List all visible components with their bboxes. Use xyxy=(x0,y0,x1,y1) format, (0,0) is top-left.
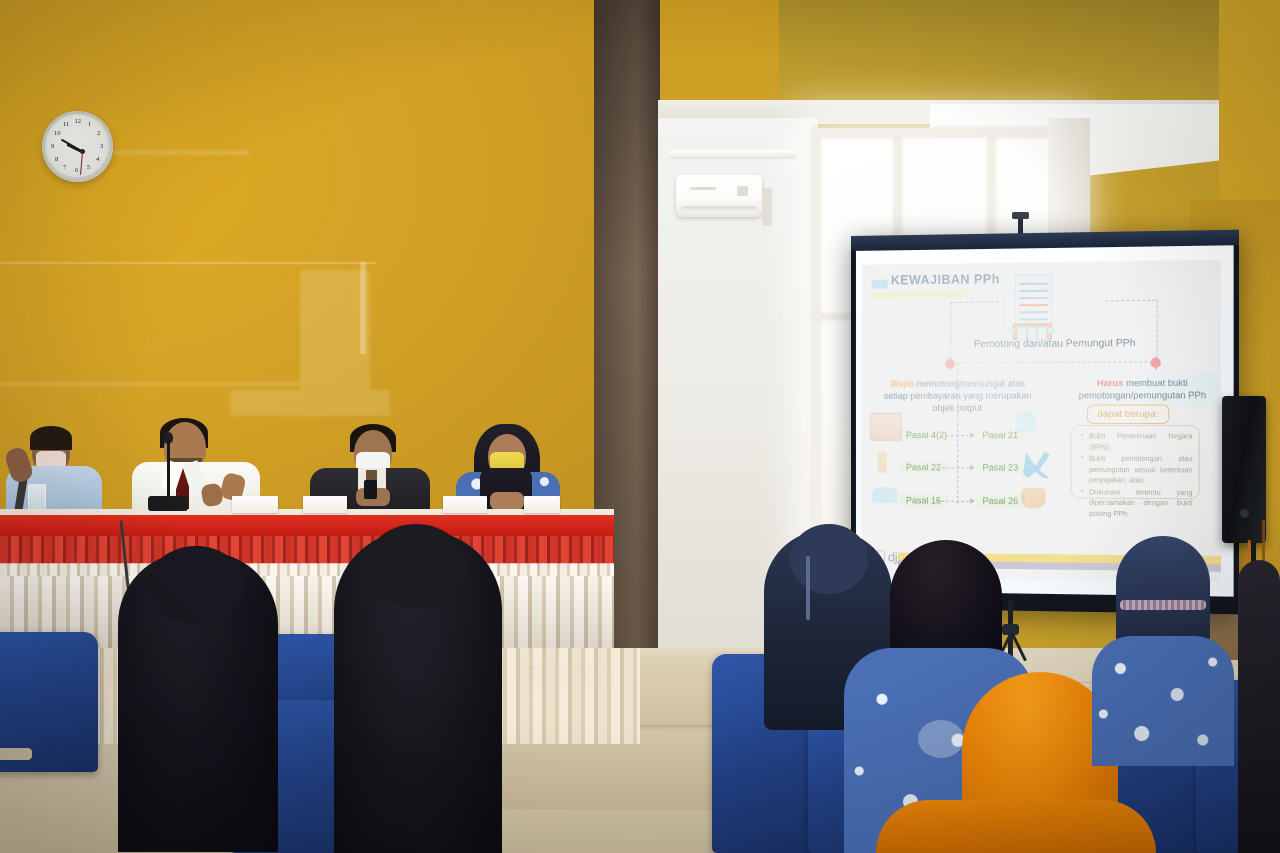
microphone-base xyxy=(148,496,188,511)
clock-second-hand xyxy=(80,152,83,175)
tools-icon xyxy=(878,451,887,473)
slide-bullet: Bukti Penerimaan Negara (BPN); xyxy=(1089,432,1192,454)
clock-numeral: 10 xyxy=(54,130,61,137)
smartphone-icon xyxy=(364,480,377,499)
ac-pipe xyxy=(762,188,772,226)
pasal-chip-right: Pasal 26 xyxy=(976,494,1024,509)
clock-numeral: 9 xyxy=(51,143,54,150)
clock-numeral: 4 xyxy=(96,156,99,163)
slide-title-underline xyxy=(872,291,967,299)
ac-mount-rail xyxy=(668,150,798,159)
basket-icon xyxy=(1021,488,1046,508)
hijab-cord xyxy=(806,556,810,620)
slide-title-accent xyxy=(872,280,888,289)
slide-bullet: Bukti pemotongan atau pemungutan sesuai … xyxy=(1089,455,1192,488)
factory-icon xyxy=(870,413,902,441)
clock-numeral: 6 xyxy=(75,167,78,174)
clock-face: 12 1 2 3 4 5 6 7 8 9 10 11 xyxy=(47,116,108,177)
clock-numeral: 12 xyxy=(75,118,82,125)
clock-numeral: 2 xyxy=(97,130,100,137)
pasal-chip-right: Pasal 23 xyxy=(976,460,1024,474)
clock-numeral: 1 xyxy=(88,121,91,128)
slide-left-heading-highlight: Wajib xyxy=(890,379,914,389)
pin-marker-right-icon xyxy=(1150,357,1160,367)
hijab-trim xyxy=(1120,600,1206,610)
bracket-frame xyxy=(950,300,1158,364)
attendee-batik-shirt xyxy=(1092,636,1234,766)
slide-bullet-box: Bukti Penerimaan Negara (BPN); Bukti pem… xyxy=(1071,425,1200,499)
clock-numeral: 8 xyxy=(55,156,58,163)
projected-slide: KEWAJIBAN PPh xyxy=(862,260,1221,582)
drinking-glass xyxy=(28,484,46,512)
chair-armrest xyxy=(0,748,32,760)
speaker-driver-icon xyxy=(1240,509,1249,518)
name-card xyxy=(303,496,347,513)
slide-bullet: Dokumen tertentu yang dipersamakan denga… xyxy=(1089,488,1192,521)
seminar-room-photo: 12 1 2 3 4 5 6 7 8 9 10 11 xyxy=(0,0,1280,853)
attendee-head xyxy=(366,524,466,608)
clock-numeral: 5 xyxy=(87,164,90,171)
clock-numeral: 3 xyxy=(100,143,103,150)
slide-right-heading: Harus membuat bukti pemotongan/pemunguta… xyxy=(1060,371,1221,407)
name-card xyxy=(443,496,487,513)
slide-badge: dapat berupa: xyxy=(1087,405,1169,425)
name-card xyxy=(524,496,560,513)
wall-clock: 12 1 2 3 4 5 6 7 8 9 10 11 xyxy=(42,111,113,182)
slide-right-heading-highlight: Harus xyxy=(1097,378,1123,388)
batik-emblem xyxy=(918,720,964,758)
panelist-hands xyxy=(490,492,524,510)
pasal-chip-left: Pasal 22 xyxy=(900,460,947,474)
pa-speaker xyxy=(1222,396,1266,543)
ac-vent xyxy=(681,206,757,213)
microphone-stem xyxy=(167,440,170,498)
pin-marker-left-icon xyxy=(945,358,955,368)
clock-center-pin xyxy=(80,149,85,154)
clock-numeral: 11 xyxy=(63,121,69,128)
slide-center-label: Pemotong dan/atau Pemungut PPh xyxy=(954,338,1156,351)
attendee-head xyxy=(790,524,868,594)
clock-numeral: 7 xyxy=(63,164,66,171)
attendee-shoulders xyxy=(876,800,1156,853)
vehicle-icon xyxy=(872,487,898,503)
ac-display-icon xyxy=(737,186,748,196)
person-icon xyxy=(1015,411,1035,433)
attendee-head xyxy=(148,546,244,624)
slide-title: KEWAJIBAN PPh xyxy=(891,272,1000,287)
panelist-hair xyxy=(30,426,72,450)
attendee-silhouette xyxy=(1238,560,1280,853)
name-card xyxy=(232,496,278,513)
ac-brand-label xyxy=(690,187,716,190)
